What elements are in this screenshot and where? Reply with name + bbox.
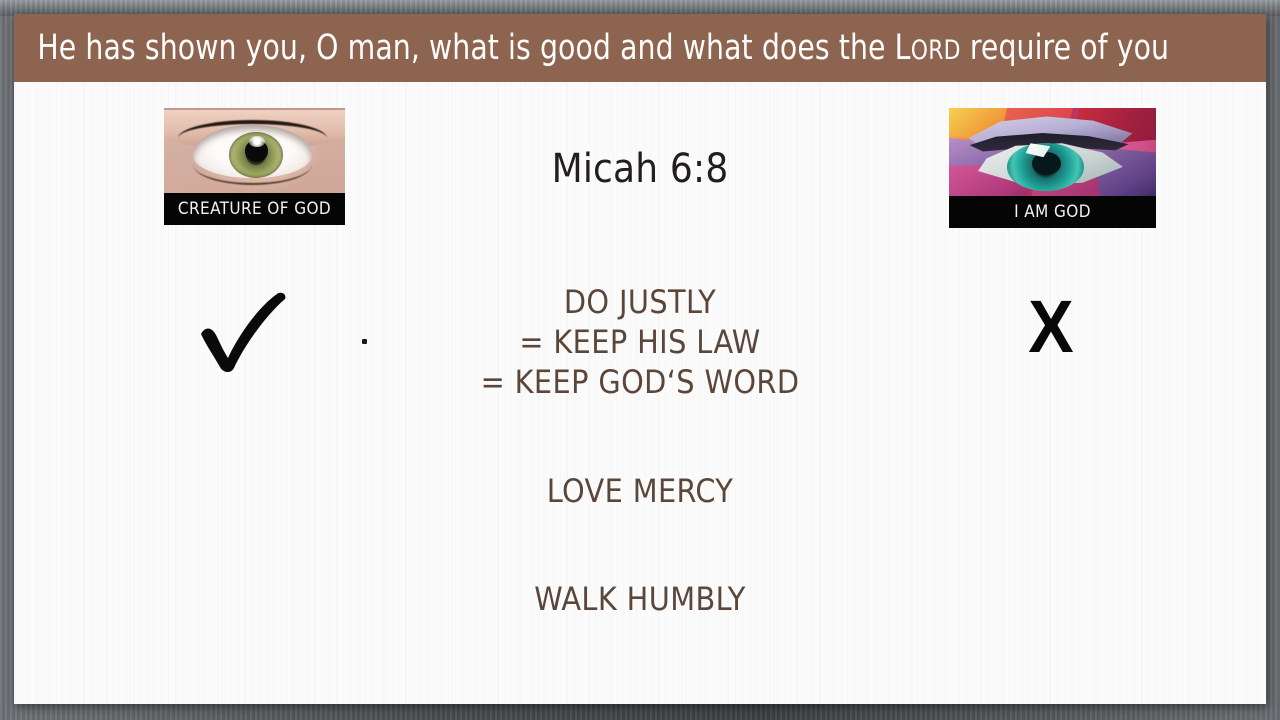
right-eye-caption: I AM GOD [949, 196, 1156, 228]
x-mark-icon: X [1010, 286, 1093, 366]
title-text-before-lord: He has shown you, O man, what is good an… [37, 28, 894, 68]
slide-canvas: He has shown you, O man, what is good an… [14, 14, 1266, 704]
left-eye-caption: CREATURE OF GOD [164, 193, 345, 225]
presentation-frame: He has shown you, O man, what is good an… [0, 0, 1280, 720]
slide-title-bar: He has shown you, O man, what is good an… [14, 14, 1266, 82]
title-lord-rest: ORD [911, 35, 961, 66]
body-line-walk-humbly: WALK HUMBLY [14, 580, 1266, 618]
scripture-reference: Micah 6:8 [14, 146, 1266, 192]
stray-dot-artifact [362, 339, 367, 344]
title-text-after-lord: require of you [961, 28, 1169, 68]
check-mark-icon [195, 286, 295, 372]
page-title: He has shown you, O man, what is good an… [14, 28, 1169, 68]
body-line-love-mercy: LOVE MERCY [14, 472, 1266, 510]
title-text-lord: LORD [895, 35, 961, 66]
title-lord-initial: L [895, 28, 911, 68]
